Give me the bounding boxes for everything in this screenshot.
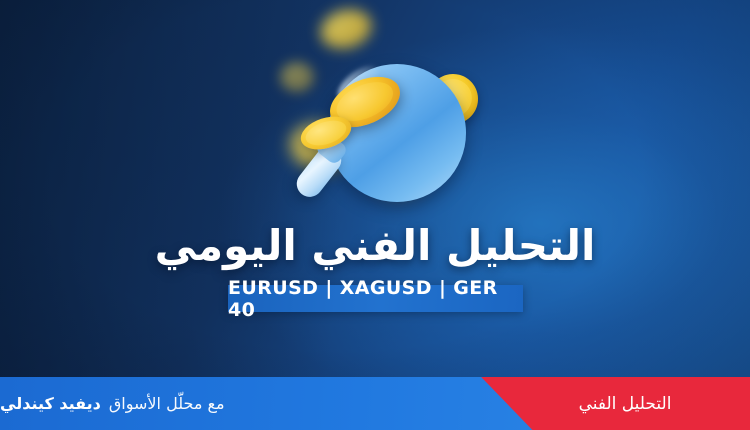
analyst-credit: مع محلّل الأسواق ديفيد كيندلي — [0, 377, 300, 430]
promo-banner: التحليل الفني اليومي EURUSD | XAGUSD | G… — [0, 0, 750, 430]
page-title: التحليل الفني اليومي — [0, 221, 750, 270]
footer-category-label: التحليل الفني — [500, 377, 750, 430]
gold-coin-icon — [280, 62, 314, 92]
analyst-name: ديفيد كيندلي — [0, 394, 101, 413]
instruments-badge: EURUSD | XAGUSD | GER 40 — [228, 285, 523, 312]
magnifier-coins-illustration — [272, 2, 488, 214]
footer-bar: مع محلّل الأسواق ديفيد كيندلي التحليل ال… — [0, 377, 750, 430]
gold-coin-icon — [316, 4, 376, 55]
analyst-credit-label: مع محلّل الأسواق — [109, 394, 225, 413]
